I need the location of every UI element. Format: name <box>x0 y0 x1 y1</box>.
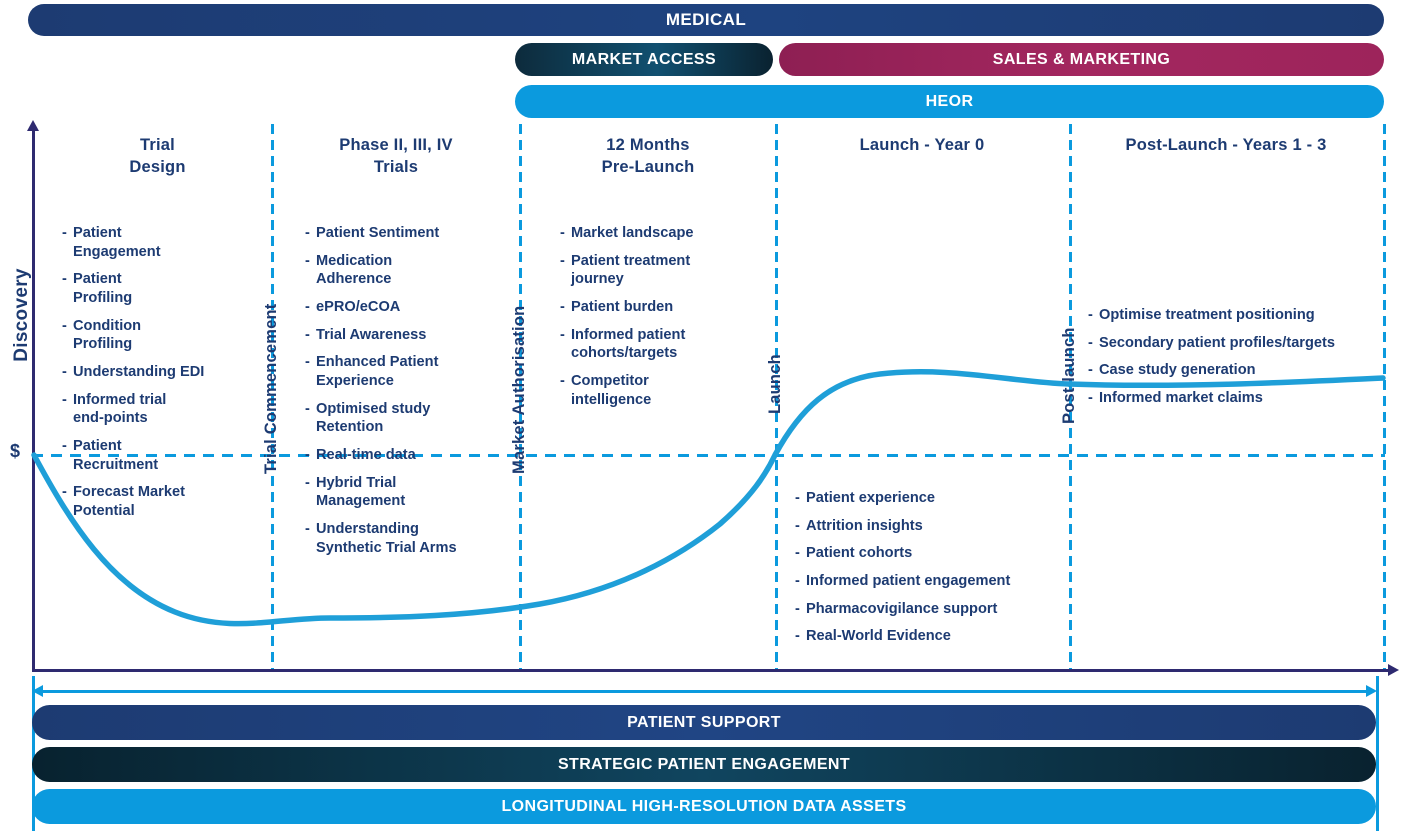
list-item: -Enhanced PatientExperience <box>305 353 505 390</box>
list-item: -PatientRecruitment <box>62 437 262 474</box>
bullet-dash-icon: - <box>62 317 73 354</box>
bottom-bar-data-assets-label: LONGITUDINAL HIGH-RESOLUTION DATA ASSETS <box>501 798 906 816</box>
bullet-dash-icon: - <box>795 572 806 591</box>
bottom-bar-patient-support[interactable]: PATIENT SUPPORT <box>32 705 1376 740</box>
function-bar-heor-label: HEOR <box>926 93 974 111</box>
list-item: -Trial Awareness <box>305 326 505 345</box>
bullet-dash-icon: - <box>62 391 73 428</box>
bottom-bar-data-assets[interactable]: LONGITUDINAL HIGH-RESOLUTION DATA ASSETS <box>32 789 1376 824</box>
bullet-dash-icon: - <box>560 252 571 289</box>
full-span-arrow-line <box>40 690 1368 693</box>
list-item: -Forecast MarketPotential <box>62 483 262 520</box>
bullet-dash-icon: - <box>795 517 806 536</box>
bullet-dash-icon: - <box>560 372 571 409</box>
function-bar-market-access[interactable]: MARKET ACCESS <box>515 43 773 76</box>
bullet-dash-icon: - <box>795 600 806 619</box>
bullet-dash-icon: - <box>62 270 73 307</box>
list-item: -ConditionProfiling <box>62 317 262 354</box>
bottom-bar-strategic-engagement-label: STRATEGIC PATIENT ENGAGEMENT <box>558 756 850 774</box>
function-bar-market-access-label: MARKET ACCESS <box>572 51 716 69</box>
bullet-dash-icon: - <box>795 627 806 646</box>
bullet-dash-icon: - <box>305 326 316 345</box>
list-item: -Case study generation <box>1088 361 1378 380</box>
list-item: -Secondary patient profiles/targets <box>1088 334 1378 353</box>
list-item: -Informed market claims <box>1088 389 1378 408</box>
bullet-dash-icon: - <box>62 363 73 382</box>
list-item: -Informed patientcohorts/targets <box>560 326 745 363</box>
bullet-dash-icon: - <box>62 437 73 474</box>
list-item: -PatientProfiling <box>62 270 262 307</box>
bullet-list-post-launch: -Optimise treatment positioning -Seconda… <box>1088 306 1378 417</box>
bullet-dash-icon: - <box>795 544 806 563</box>
list-item: -Patient cohorts <box>795 544 1065 563</box>
bullet-dash-icon: - <box>560 298 571 317</box>
bullet-dash-icon: - <box>560 326 571 363</box>
list-item: -Informed trialend-points <box>62 391 262 428</box>
list-item: -Patient experience <box>795 489 1065 508</box>
bottom-bar-strategic-engagement[interactable]: STRATEGIC PATIENT ENGAGEMENT <box>32 747 1376 782</box>
bullet-list-trial-design: -PatientEngagement -PatientProfiling -Co… <box>62 224 262 530</box>
arrow-right-icon <box>1366 685 1377 697</box>
lifecycle-diagram: MEDICAL MARKET ACCESS SALES & MARKETING … <box>0 0 1401 836</box>
bullet-dash-icon: - <box>1088 334 1099 353</box>
arrow-left-icon <box>32 685 43 697</box>
list-item: -Competitorintelligence <box>560 372 745 409</box>
list-item: -Understanding EDI <box>62 363 262 382</box>
list-item: -Optimise treatment positioning <box>1088 306 1378 325</box>
bullet-list-phase-trials: -Patient Sentiment -MedicationAdherence … <box>305 224 505 566</box>
bullet-dash-icon: - <box>560 224 571 243</box>
bullet-dash-icon: - <box>305 474 316 511</box>
bullet-dash-icon: - <box>305 252 316 289</box>
function-bar-sales-marketing-label: SALES & MARKETING <box>993 51 1170 69</box>
bottom-section: PATIENT SUPPORT STRATEGIC PATIENT ENGAGE… <box>0 676 1401 836</box>
bullet-dash-icon: - <box>305 400 316 437</box>
function-bar-heor[interactable]: HEOR <box>515 85 1384 118</box>
bullet-dash-icon: - <box>305 224 316 243</box>
bullet-dash-icon: - <box>1088 389 1099 408</box>
bullet-list-launch-year-0: -Patient experience -Attrition insights … <box>795 489 1065 655</box>
bullet-dash-icon: - <box>1088 361 1099 380</box>
bullet-dash-icon: - <box>305 298 316 317</box>
list-item: -MedicationAdherence <box>305 252 505 289</box>
plot-area: Discovery $ Trial Commencement Market Au… <box>0 124 1401 674</box>
list-item: -Patient Sentiment <box>305 224 505 243</box>
function-bar-medical[interactable]: MEDICAL <box>28 4 1384 36</box>
list-item: -Patient burden <box>560 298 745 317</box>
list-item: -Patient treatmentjourney <box>560 252 745 289</box>
list-item: -Real-World Evidence <box>795 627 1065 646</box>
function-bar-medical-label: MEDICAL <box>666 10 746 30</box>
bullet-dash-icon: - <box>62 483 73 520</box>
list-item: -PatientEngagement <box>62 224 262 261</box>
bullet-dash-icon: - <box>1088 306 1099 325</box>
right-bracket-line <box>1376 676 1379 831</box>
bullet-dash-icon: - <box>305 520 316 557</box>
list-item: -Real-time data <box>305 446 505 465</box>
list-item: -UnderstandingSynthetic Trial Arms <box>305 520 505 557</box>
bullet-dash-icon: - <box>62 224 73 261</box>
list-item: -Attrition insights <box>795 517 1065 536</box>
bullet-dash-icon: - <box>305 353 316 390</box>
list-item: -Optimised studyRetention <box>305 400 505 437</box>
list-item: -Market landscape <box>560 224 745 243</box>
bullet-dash-icon: - <box>305 446 316 465</box>
list-item: -Pharmacovigilance support <box>795 600 1065 619</box>
bullet-list-pre-launch: -Market landscape -Patient treatmentjour… <box>560 224 745 418</box>
list-item: -ePRO/eCOA <box>305 298 505 317</box>
list-item: -Informed patient engagement <box>795 572 1065 591</box>
list-item: -Hybrid TrialManagement <box>305 474 505 511</box>
bullet-dash-icon: - <box>795 489 806 508</box>
function-bar-sales-marketing[interactable]: SALES & MARKETING <box>779 43 1384 76</box>
bottom-bar-patient-support-label: PATIENT SUPPORT <box>627 714 781 732</box>
